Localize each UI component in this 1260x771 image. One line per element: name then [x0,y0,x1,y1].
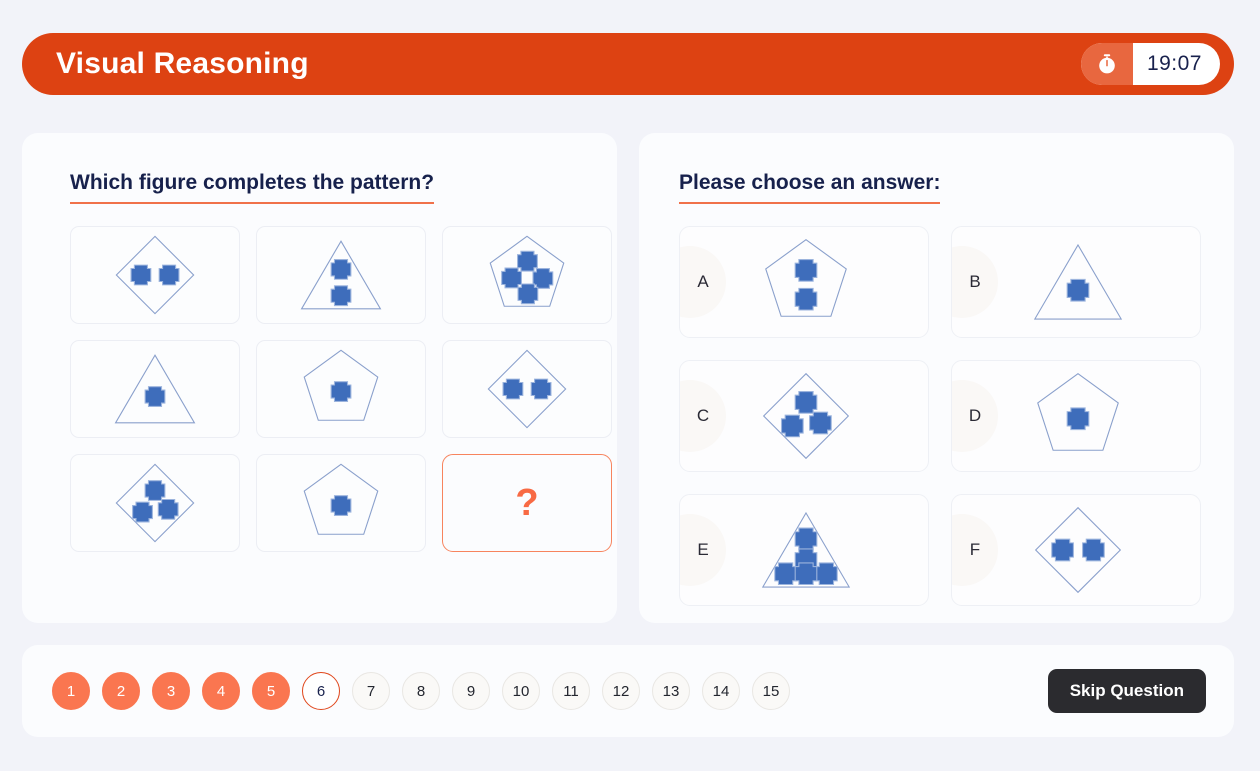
answer-options: ABCDEF [679,226,1204,606]
app-header: Visual Reasoning 19:07 [22,33,1234,95]
diamond-figure-icon [485,347,569,431]
page-dot-11[interactable]: 11 [552,672,590,710]
page-dot-15[interactable]: 15 [752,672,790,710]
answer-heading: Please choose an answer: [679,171,940,204]
matrix-cell-blank: ? [442,454,612,552]
option-letter: E [697,540,708,560]
timer: 19:07 [1081,43,1220,85]
option-badge: E [679,514,726,586]
answer-option-e[interactable]: E [679,494,929,606]
pentagon-figure-icon [299,461,383,545]
answer-option-d[interactable]: D [951,360,1201,472]
page-dot-8[interactable]: 8 [402,672,440,710]
panels-container: Which figure completes the pattern? ? Pl… [22,133,1234,623]
diamond-figure-icon [113,233,197,317]
page-dot-4[interactable]: 4 [202,672,240,710]
page-dot-6[interactable]: 6 [302,672,340,710]
option-badge: C [679,380,726,452]
page-dot-3[interactable]: 3 [152,672,190,710]
matrix-cell [256,340,426,438]
pentagon-figure-icon [485,233,569,317]
matrix-cell [256,454,426,552]
option-letter: C [697,406,709,426]
triangle-figure-icon [1030,234,1126,330]
triangle-figure-icon [299,233,383,317]
diamond-figure-icon [758,368,854,464]
footer-bar: 123456789101112131415 Skip Question [22,645,1234,737]
pentagon-figure-icon [758,234,854,330]
question-pager: 123456789101112131415 [52,672,790,710]
page-dot-9[interactable]: 9 [452,672,490,710]
page-dot-10[interactable]: 10 [502,672,540,710]
question-panel: Which figure completes the pattern? ? [22,133,617,623]
triangle-figure-icon [758,502,854,598]
page-dot-5[interactable]: 5 [252,672,290,710]
question-mark: ? [515,484,538,522]
page-dot-13[interactable]: 13 [652,672,690,710]
option-badge: B [951,246,998,318]
option-badge: F [951,514,998,586]
option-letter: B [969,272,980,292]
option-letter: D [969,406,981,426]
page-dot-12[interactable]: 12 [602,672,640,710]
question-heading: Which figure completes the pattern? [70,171,434,204]
matrix-cell [70,454,240,552]
answer-option-b[interactable]: B [951,226,1201,338]
answer-panel: Please choose an answer: ABCDEF [639,133,1234,623]
answer-option-a[interactable]: A [679,226,929,338]
page-dot-7[interactable]: 7 [352,672,390,710]
skip-question-button[interactable]: Skip Question [1048,669,1206,713]
diamond-figure-icon [1030,502,1126,598]
option-badge: A [679,246,726,318]
matrix-cell [256,226,426,324]
timer-value: 19:07 [1133,52,1220,76]
pentagon-figure-icon [1030,368,1126,464]
matrix-cell [442,226,612,324]
visual-reasoning-test-app: Visual Reasoning 19:07 Which figure comp… [0,0,1260,771]
stopwatch-icon [1081,43,1133,85]
page-dot-1[interactable]: 1 [52,672,90,710]
option-letter: A [697,272,708,292]
diamond-figure-icon [113,461,197,545]
triangle-figure-icon [113,347,197,431]
matrix-cell [442,340,612,438]
option-letter: F [970,540,980,560]
pattern-matrix: ? [70,226,587,552]
answer-option-c[interactable]: C [679,360,929,472]
matrix-cell [70,226,240,324]
pentagon-figure-icon [299,347,383,431]
page-dot-14[interactable]: 14 [702,672,740,710]
matrix-cell [70,340,240,438]
answer-option-f[interactable]: F [951,494,1201,606]
page-dot-2[interactable]: 2 [102,672,140,710]
option-badge: D [951,380,998,452]
page-title: Visual Reasoning [56,47,309,81]
